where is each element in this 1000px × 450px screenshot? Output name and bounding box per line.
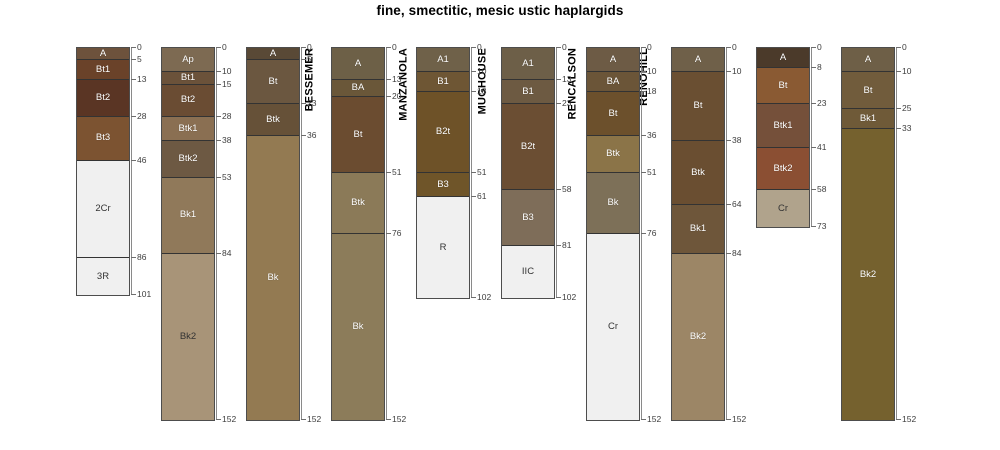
soil-horizon[interactable]: B2t [417, 92, 469, 173]
horizon-label: B3 [437, 180, 449, 190]
depth-tick [131, 116, 136, 117]
horizon-label: Bt1 [96, 65, 110, 75]
depth-tick [471, 47, 476, 48]
depth-tick [726, 47, 731, 48]
soil-horizon[interactable]: Bt [332, 97, 384, 173]
soil-horizon[interactable]: Btk [247, 104, 299, 136]
profile-column[interactable]: ABABtBtkBk [331, 47, 385, 421]
depth-tick [131, 79, 136, 80]
depth-tick [216, 253, 221, 254]
depth-tick [811, 226, 816, 227]
depth-tick [471, 196, 476, 197]
depth-tick [471, 91, 476, 92]
horizon-label: Bt2 [96, 93, 110, 103]
soil-horizon[interactable]: Bk2 [842, 129, 894, 420]
depth-tick [641, 91, 646, 92]
depth-tick-label: 5 [307, 55, 312, 64]
soil-horizon[interactable]: Bt [842, 72, 894, 109]
horizon-label: Btk [266, 115, 280, 125]
depth-tick-label: 13 [562, 75, 571, 84]
horizon-label: Bk [267, 273, 278, 283]
profile-column[interactable]: A1B1B2tB3R [416, 47, 470, 299]
soil-horizon[interactable]: Btk1 [162, 117, 214, 141]
depth-tick [216, 71, 221, 72]
depth-tick [726, 71, 731, 72]
horizon-label: Bk2 [860, 270, 876, 280]
horizon-label: Bk1 [860, 114, 876, 124]
horizon-label: Bk1 [180, 210, 196, 220]
depth-tick-label: 51 [647, 168, 656, 177]
depth-tick-label: 0 [817, 43, 822, 52]
depth-tick [896, 47, 901, 48]
depth-tick-label: 152 [222, 415, 236, 424]
depth-axis [726, 47, 727, 419]
soil-horizon[interactable]: B1 [502, 80, 554, 104]
depth-tick [386, 233, 391, 234]
soil-horizon[interactable]: Bt1 [162, 72, 214, 84]
depth-tick-label: 41 [817, 143, 826, 152]
soil-horizon[interactable]: Btk [332, 173, 384, 234]
depth-tick [216, 116, 221, 117]
profile-column[interactable]: ApBt1Bt2Btk1Btk2Bk1Bk2 [161, 47, 215, 421]
horizon-label: A [100, 49, 106, 59]
horizon-label: Bt2 [181, 95, 195, 105]
soil-horizon[interactable]: 3R [77, 258, 129, 295]
horizon-label: B3 [522, 213, 534, 223]
depth-tick-label: 76 [647, 229, 656, 238]
profile-column[interactable]: ABtBtkBk [246, 47, 300, 421]
horizon-label: Bt [269, 77, 278, 87]
depth-tick-label: 152 [647, 415, 661, 424]
depth-tick [726, 140, 731, 141]
depth-tick-label: 152 [732, 415, 746, 424]
depth-tick [131, 257, 136, 258]
soil-horizon[interactable]: R [417, 197, 469, 297]
depth-axis [896, 47, 897, 419]
soil-horizon[interactable]: A1 [502, 48, 554, 80]
depth-tick [471, 172, 476, 173]
depth-tick-label: 5 [137, 55, 142, 64]
horizon-label: Bk [352, 322, 363, 332]
soil-horizon[interactable]: Btk2 [757, 148, 809, 190]
profile-name-label: MUGHOUSE [476, 48, 488, 114]
soil-horizon[interactable]: Bk2 [162, 254, 214, 420]
depth-tick [131, 160, 136, 161]
depth-tick [386, 419, 391, 420]
depth-tick-label: 18 [477, 87, 486, 96]
depth-tick [301, 103, 306, 104]
depth-tick-label: 8 [817, 63, 822, 72]
depth-tick [811, 147, 816, 148]
depth-tick-label: 51 [477, 168, 486, 177]
depth-tick-label: 0 [732, 43, 737, 52]
horizon-label: Btk [606, 149, 620, 159]
depth-tick-label: 10 [732, 67, 741, 76]
soil-horizon[interactable]: Bk1 [162, 178, 214, 254]
depth-tick-label: 15 [222, 80, 231, 89]
horizon-label: Bk1 [690, 224, 706, 234]
depth-tick-label: 23 [817, 99, 826, 108]
soil-horizon[interactable]: Bk [587, 173, 639, 234]
depth-tick-label: 23 [307, 99, 316, 108]
depth-tick-label: 33 [902, 124, 911, 133]
horizon-label: Bk [607, 198, 618, 208]
soil-horizon[interactable]: Bt3 [77, 117, 129, 161]
depth-tick-label: 13 [137, 75, 146, 84]
profile-column[interactable]: ABtBk1Bk2 [841, 47, 895, 421]
horizon-label: Bt [864, 86, 873, 96]
horizon-label: B1 [437, 77, 449, 87]
depth-tick [896, 71, 901, 72]
depth-tick [301, 47, 306, 48]
depth-tick-label: 84 [732, 249, 741, 258]
depth-axis [216, 47, 217, 419]
chart-title: fine, smectitic, mesic ustic haplargids [0, 3, 1000, 18]
depth-tick [131, 47, 136, 48]
soil-horizon[interactable]: Cr [587, 234, 639, 420]
horizon-label: Btk1 [773, 121, 792, 131]
depth-tick [811, 67, 816, 68]
depth-axis [556, 47, 557, 297]
depth-tick-label: 73 [817, 222, 826, 231]
soil-horizon[interactable]: Bk1 [672, 205, 724, 254]
soil-horizon[interactable]: A [247, 48, 299, 60]
soil-horizon[interactable]: Bk [332, 234, 384, 420]
depth-tick-label: 61 [477, 192, 486, 201]
profile-column[interactable]: A1B1B2tB3IIC [501, 47, 555, 299]
soil-horizon[interactable]: Bk1 [842, 109, 894, 129]
depth-tick [641, 172, 646, 173]
depth-tick-label: 28 [222, 112, 231, 121]
depth-tick [471, 297, 476, 298]
horizon-label: 3R [97, 272, 109, 282]
soil-horizon[interactable]: BA [587, 72, 639, 92]
depth-tick-label: 20 [392, 92, 401, 101]
depth-tick [386, 172, 391, 173]
depth-tick [896, 419, 901, 420]
depth-tick-label: 0 [222, 43, 227, 52]
depth-tick-label: 0 [647, 43, 652, 52]
horizon-label: B2t [436, 127, 450, 137]
horizon-label: B1 [522, 87, 534, 97]
depth-tick-label: 84 [222, 249, 231, 258]
depth-tick [386, 79, 391, 80]
depth-tick-label: 10 [902, 67, 911, 76]
depth-tick [726, 419, 731, 420]
soil-horizon[interactable]: 2Cr [77, 161, 129, 259]
horizon-label: Cr [778, 204, 788, 214]
depth-tick-label: 64 [732, 200, 741, 209]
horizon-label: Bt [779, 81, 788, 91]
depth-tick-label: 10 [222, 67, 231, 76]
horizon-label: R [440, 243, 447, 253]
soil-horizon[interactable]: A [842, 48, 894, 72]
depth-tick [811, 47, 816, 48]
horizon-label: Bt [609, 109, 618, 119]
soil-horizon[interactable]: Bt2 [77, 80, 129, 117]
depth-tick [641, 71, 646, 72]
horizon-label: Ap [182, 55, 194, 65]
depth-axis [811, 47, 812, 226]
depth-tick-label: 152 [392, 415, 406, 424]
depth-tick [641, 419, 646, 420]
soil-horizon[interactable]: Bk2 [672, 254, 724, 420]
soil-horizon[interactable]: IIC [502, 246, 554, 297]
horizon-label: Bt1 [181, 73, 195, 83]
horizon-label: IIC [522, 267, 534, 277]
soil-horizon[interactable]: A [587, 48, 639, 72]
horizon-label: Btk [691, 168, 705, 178]
depth-tick-label: 28 [137, 112, 146, 121]
depth-tick-label: 36 [647, 131, 656, 140]
depth-tick [556, 297, 561, 298]
depth-tick-label: 0 [902, 43, 907, 52]
depth-tick [386, 96, 391, 97]
horizon-label: A1 [522, 59, 534, 69]
soil-profile-chart: fine, smectitic, mesic ustic haplargids … [0, 0, 1000, 450]
soil-horizon[interactable]: B2t [502, 104, 554, 190]
depth-tick [471, 71, 476, 72]
depth-tick-label: 38 [222, 136, 231, 145]
horizon-label: A [610, 55, 616, 65]
depth-tick [556, 79, 561, 80]
horizon-label: A1 [437, 55, 449, 65]
depth-tick-label: 102 [477, 293, 491, 302]
depth-tick [641, 135, 646, 136]
depth-tick [216, 419, 221, 420]
profile-column[interactable]: ABtBtk1Btk2Cr [756, 47, 810, 228]
horizon-label: Btk [351, 198, 365, 208]
soil-horizon[interactable]: Bt [757, 68, 809, 105]
horizon-label: A [695, 55, 701, 65]
soil-horizon[interactable]: Ap [162, 48, 214, 72]
soil-horizon[interactable]: A [757, 48, 809, 68]
depth-tick [896, 108, 901, 109]
depth-tick-label: 86 [137, 253, 146, 262]
horizon-label: A [270, 49, 276, 59]
depth-tick [216, 177, 221, 178]
soil-horizon[interactable]: Bt [672, 72, 724, 141]
horizon-label: 2Cr [95, 204, 110, 214]
depth-tick-label: 101 [137, 290, 151, 299]
depth-tick-label: 102 [562, 293, 576, 302]
depth-tick [811, 189, 816, 190]
depth-tick [556, 245, 561, 246]
depth-tick-label: 81 [562, 241, 571, 250]
horizon-label: Btk1 [178, 124, 197, 134]
soil-horizon[interactable]: Btk [587, 136, 639, 173]
depth-tick-label: 0 [392, 43, 397, 52]
depth-tick-label: 10 [477, 67, 486, 76]
depth-tick-label: 51 [392, 168, 401, 177]
depth-tick-label: 36 [307, 131, 316, 140]
soil-horizon[interactable]: B3 [417, 173, 469, 197]
soil-horizon[interactable]: Bt [587, 92, 639, 136]
depth-tick [386, 47, 391, 48]
depth-tick-label: 23 [562, 99, 571, 108]
depth-tick-label: 58 [817, 185, 826, 194]
depth-tick [556, 103, 561, 104]
profile-name-label: MANZANOLA [398, 48, 410, 121]
depth-tick [216, 84, 221, 85]
soil-horizon[interactable]: A [332, 48, 384, 80]
horizon-label: Bk2 [690, 332, 706, 342]
soil-horizon[interactable]: BA [332, 80, 384, 97]
profile-column[interactable]: ABtBtkBk1Bk2 [671, 47, 725, 421]
depth-tick-label: 58 [562, 185, 571, 194]
horizon-label: A [865, 55, 871, 65]
soil-horizon[interactable]: Bt [247, 60, 299, 104]
soil-horizon[interactable]: Btk [672, 141, 724, 205]
depth-tick [301, 135, 306, 136]
depth-tick [726, 253, 731, 254]
soil-horizon[interactable]: Bt2 [162, 85, 214, 117]
depth-tick [301, 419, 306, 420]
depth-tick-label: 13 [392, 75, 401, 84]
depth-tick [641, 47, 646, 48]
depth-tick [216, 47, 221, 48]
horizon-label: Btk2 [178, 154, 197, 164]
soil-horizon[interactable]: A [672, 48, 724, 72]
depth-tick-label: 18 [647, 87, 656, 96]
depth-tick-label: 10 [647, 67, 656, 76]
horizon-label: Bk2 [180, 332, 196, 342]
horizon-label: Btk2 [773, 164, 792, 174]
soil-horizon[interactable]: Bk [247, 136, 299, 420]
horizon-label: Cr [608, 322, 618, 332]
depth-tick [811, 103, 816, 104]
horizon-label: Bt3 [96, 133, 110, 143]
depth-tick-label: 25 [902, 104, 911, 113]
depth-tick-label: 46 [137, 156, 146, 165]
soil-horizon[interactable]: Bt1 [77, 60, 129, 80]
depth-tick-label: 38 [732, 136, 741, 145]
soil-horizon[interactable]: B1 [417, 72, 469, 92]
horizon-label: Bt [354, 130, 363, 140]
depth-tick [556, 189, 561, 190]
horizon-label: BA [352, 83, 365, 93]
depth-tick [131, 294, 136, 295]
depth-tick-label: 152 [307, 415, 321, 424]
depth-tick [131, 59, 136, 60]
soil-horizon[interactable]: Cr [757, 190, 809, 227]
depth-tick-label: 0 [137, 43, 142, 52]
profile-column[interactable]: ABt1Bt2Bt32Cr3R [76, 47, 130, 296]
depth-tick [216, 140, 221, 141]
horizon-label: A [355, 59, 361, 69]
depth-tick [301, 59, 306, 60]
depth-tick-label: 0 [562, 43, 567, 52]
depth-tick [896, 128, 901, 129]
soil-horizon[interactable]: A [77, 48, 129, 60]
horizon-label: A [780, 53, 786, 63]
soil-horizon[interactable]: A1 [417, 48, 469, 72]
depth-tick-label: 0 [307, 43, 312, 52]
depth-tick [641, 233, 646, 234]
depth-tick-label: 0 [477, 43, 482, 52]
soil-horizon[interactable]: Btk2 [162, 141, 214, 178]
depth-tick-label: 152 [902, 415, 916, 424]
depth-tick-label: 76 [392, 229, 401, 238]
horizon-label: BA [607, 77, 620, 87]
horizon-label: B2t [521, 142, 535, 152]
depth-tick-label: 53 [222, 173, 231, 182]
horizon-label: Bt [694, 101, 703, 111]
depth-tick [556, 47, 561, 48]
depth-tick [726, 204, 731, 205]
profile-column[interactable]: ABABtBtkBkCr [586, 47, 640, 421]
soil-horizon[interactable]: B3 [502, 190, 554, 246]
soil-horizon[interactable]: Btk1 [757, 104, 809, 148]
